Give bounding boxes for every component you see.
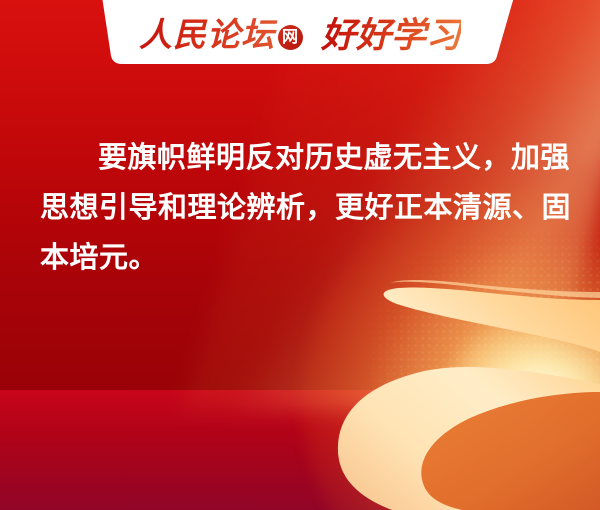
brand-slogan: 好好学习 [321,7,461,58]
quote-line-2: 思想引导和理论辨析，更好正本清源、固 [40,183,570,233]
header-banner: 人民论坛网 好好学习 [0,0,600,70]
circled-net-icon: 网 [278,25,303,50]
quote-text: 要旗帜鲜明反对历史虚无主义，加强 思想引导和理论辨析，更好正本清源、固 本培元。 [40,133,570,283]
brand-name: 人民论坛网 [139,8,303,56]
brand-logo[interactable]: 人民论坛网 好好学习 [0,0,600,64]
quote-line-3: 本培元。 [40,233,570,283]
poster-canvas: 人民论坛网 好好学习 要旗帜鲜明反对历史虚无主义，加强 思想引导和理论辨析，更好… [0,0,600,510]
quote-line-1: 要旗帜鲜明反对历史虚无主义，加强 [40,133,570,183]
